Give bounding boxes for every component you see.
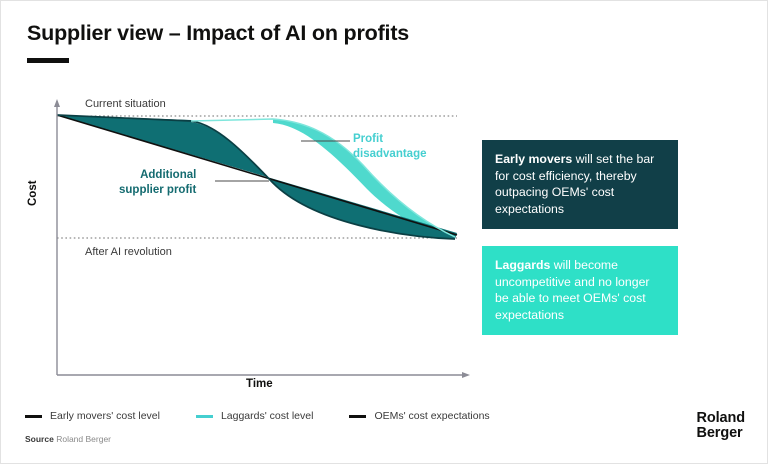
annotation-profit-disadvantage-line2: disadvantage: [353, 147, 427, 162]
legend-label-early-movers: Early movers' cost level: [50, 410, 160, 422]
logo-line-1: Roland: [696, 411, 745, 426]
chart-svg: [1, 1, 501, 401]
roland-berger-logo: Roland Berger: [696, 411, 745, 442]
label-after-ai-revolution: After AI revolution: [85, 246, 172, 258]
annotation-profit-disadvantage-line1: Profit: [353, 132, 427, 147]
legend-item-laggards: Laggards' cost level: [196, 410, 313, 422]
callout-early-movers: Early movers will set the bar for cost e…: [482, 140, 678, 229]
y-axis-label: Cost: [27, 180, 39, 206]
annotation-profit-disadvantage: Profit disadvantage: [353, 132, 427, 161]
slide-canvas: Supplier view – Impact of AI on profits: [0, 0, 768, 464]
annotation-additional-supplier-profit-line1: Additional: [119, 168, 196, 183]
callout-laggards-lead: Laggards: [495, 258, 550, 272]
legend-swatch-early-movers: [25, 415, 42, 418]
legend-item-oems: OEMs' cost expectations: [349, 410, 489, 422]
annotation-additional-supplier-profit-line2: supplier profit: [119, 183, 196, 198]
legend-label-laggards: Laggards' cost level: [221, 410, 313, 422]
legend-item-early-movers: Early movers' cost level: [25, 410, 160, 422]
label-current-situation: Current situation: [85, 98, 166, 110]
source-value: Roland Berger: [56, 434, 111, 444]
annotation-additional-supplier-profit: Additional supplier profit: [119, 168, 196, 197]
source-label: Source: [25, 434, 54, 444]
legend-label-oems: OEMs' cost expectations: [374, 410, 489, 422]
source-note: Source Roland Berger: [25, 434, 111, 444]
x-axis-label: Time: [246, 378, 273, 390]
chart-legend: Early movers' cost level Laggards' cost …: [25, 410, 526, 422]
logo-line-2: Berger: [696, 426, 745, 441]
x-axis-arrowhead: [462, 372, 470, 378]
legend-swatch-laggards: [196, 415, 213, 418]
chart-region: Cost Time Current situation After AI rev…: [1, 1, 501, 401]
legend-swatch-oems: [349, 415, 366, 418]
callout-laggards: Laggards will become uncompetitive and n…: [482, 246, 678, 335]
callout-early-movers-lead: Early movers: [495, 152, 572, 166]
y-axis-arrowhead: [54, 99, 60, 107]
